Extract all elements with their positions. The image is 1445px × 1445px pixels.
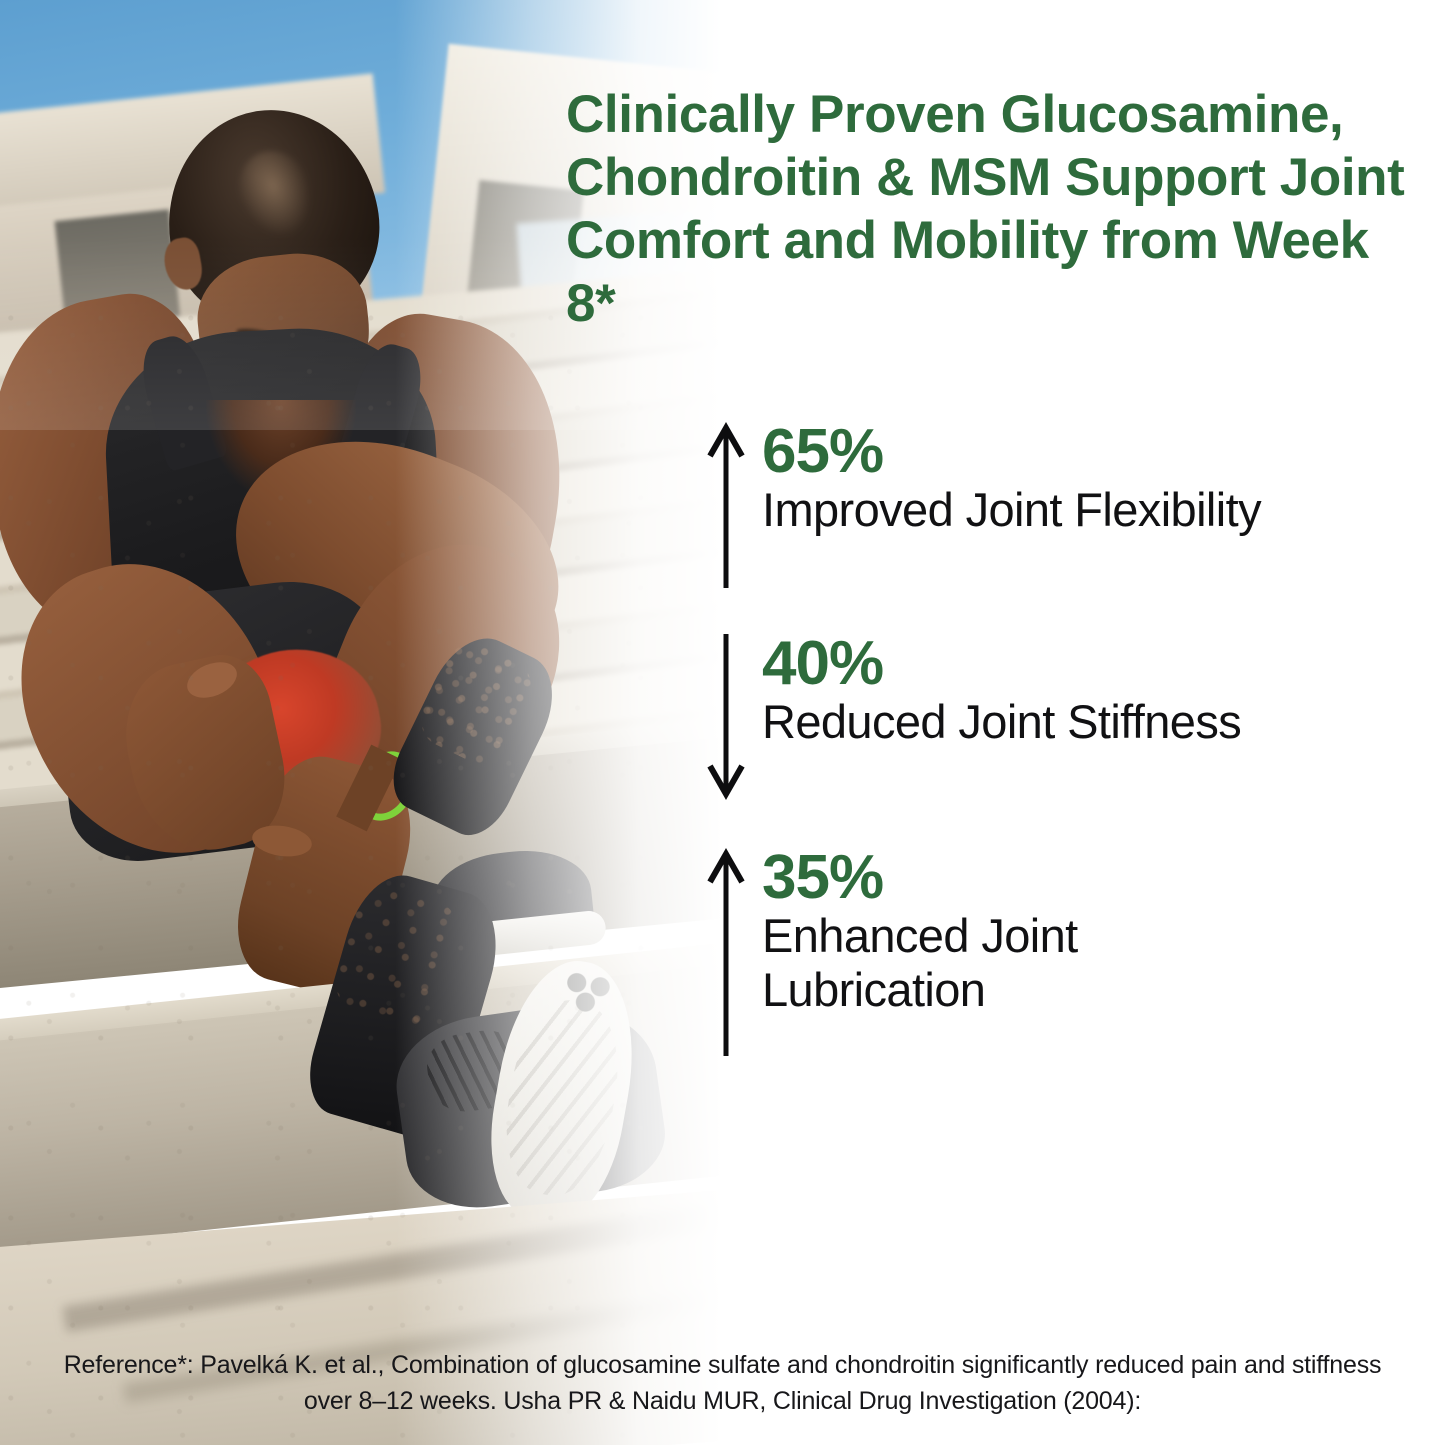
arrow-up-icon [706, 420, 756, 590]
stat-item-flexibility: 65% Improved Joint Flexibility [706, 420, 1426, 590]
stat-item-stiffness: 40% Reduced Joint Stiffness [706, 632, 1426, 802]
stat-value: 40% [762, 632, 1241, 695]
stat-label: Enhanced Joint Lubrication [762, 909, 1078, 1016]
stat-value: 65% [762, 420, 1261, 483]
concrete-grain-texture [0, 300, 760, 1445]
reference-footnote: Reference*: Pavelká K. et al., Combinati… [0, 1348, 1445, 1419]
stat-text-lubrication: 35% Enhanced Joint Lubrication [756, 846, 1078, 1016]
stat-item-lubrication: 35% Enhanced Joint Lubrication [706, 846, 1426, 1058]
stat-label: Improved Joint Flexibility [762, 483, 1261, 537]
arrow-up-icon [706, 846, 756, 1058]
stat-label: Reduced Joint Stiffness [762, 695, 1241, 749]
arrow-down-icon [706, 632, 756, 802]
stat-text-stiffness: 40% Reduced Joint Stiffness [756, 632, 1241, 749]
page-title: Clinically Proven Glucosamine, Chondroit… [566, 83, 1416, 335]
statistics-list: 65% Improved Joint Flexibility 40% Reduc… [706, 420, 1426, 1058]
infographic-canvas: Clinically Proven Glucosamine, Chondroit… [0, 0, 1445, 1445]
stat-value: 35% [762, 846, 1078, 909]
stat-text-flexibility: 65% Improved Joint Flexibility [756, 420, 1261, 537]
